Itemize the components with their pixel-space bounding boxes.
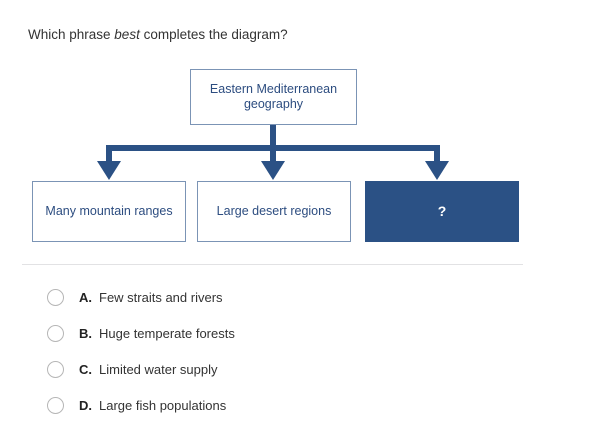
answer-option-b[interactable]: B. Huge temperate forests bbox=[47, 324, 567, 342]
answer-option-b-text: Huge temperate forests bbox=[99, 326, 235, 341]
arrow-head-left-icon bbox=[97, 161, 121, 180]
arrow-head-middle-icon bbox=[261, 161, 285, 180]
answer-option-c-letter: C. bbox=[79, 362, 92, 377]
diagram-node-missing-label: ? bbox=[438, 204, 447, 219]
answer-option-d[interactable]: D. Large fish populations bbox=[47, 396, 567, 414]
diagram-node-child-1-label: Many mountain ranges bbox=[45, 204, 172, 219]
diagram-node-root-label: Eastern Mediterranean geography bbox=[199, 82, 348, 112]
answer-option-b-letter: B. bbox=[79, 326, 92, 341]
radio-button-c[interactable] bbox=[47, 361, 64, 378]
diagram-node-missing-answer: ? bbox=[365, 181, 519, 242]
radio-button-b[interactable] bbox=[47, 325, 64, 342]
diagram-node-child-2-label: Large desert regions bbox=[217, 204, 332, 219]
diagram-node-root: Eastern Mediterranean geography bbox=[190, 69, 357, 125]
connector-branch-stem-left bbox=[106, 145, 112, 163]
answer-option-a-text: Few straits and rivers bbox=[99, 290, 223, 305]
diagram: Eastern Mediterranean geography Many mou… bbox=[0, 0, 615, 260]
diagram-node-child-2: Large desert regions bbox=[197, 181, 351, 242]
connector-branch-stem-middle bbox=[270, 145, 276, 163]
answer-option-a[interactable]: A. Few straits and rivers bbox=[47, 288, 567, 306]
diagram-node-child-1: Many mountain ranges bbox=[32, 181, 186, 242]
answer-option-a-letter: A. bbox=[79, 290, 92, 305]
connector-branch-stem-right bbox=[434, 145, 440, 163]
answer-option-d-letter: D. bbox=[79, 398, 92, 413]
answer-option-c[interactable]: C. Limited water supply bbox=[47, 360, 567, 378]
answer-option-d-text: Large fish populations bbox=[99, 398, 226, 413]
section-divider bbox=[22, 264, 523, 265]
radio-button-d[interactable] bbox=[47, 397, 64, 414]
arrow-head-right-icon bbox=[425, 161, 449, 180]
answer-option-c-text: Limited water supply bbox=[99, 362, 218, 377]
radio-button-a[interactable] bbox=[47, 289, 64, 306]
answer-options-list: A. Few straits and rivers B. Huge temper… bbox=[47, 288, 567, 432]
